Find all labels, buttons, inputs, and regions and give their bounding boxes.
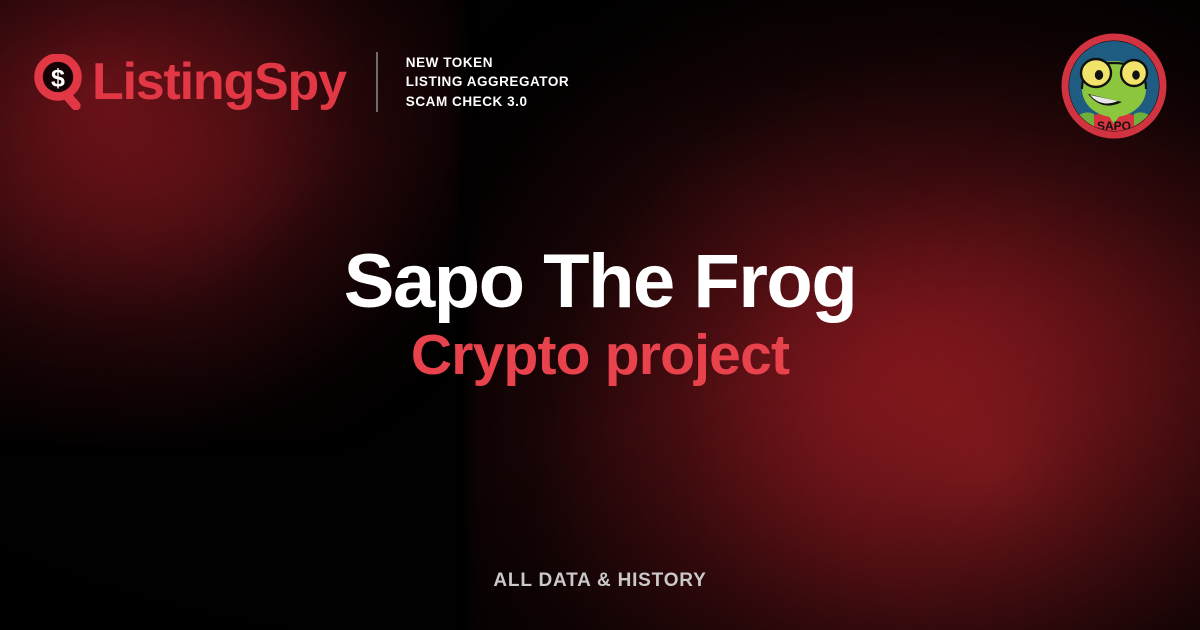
brand-name: ListingSpy xyxy=(92,56,346,108)
page-title: Sapo The Frog xyxy=(0,243,1200,321)
header-divider xyxy=(376,52,378,112)
tagline-line-2: LISTING AGGREGATOR xyxy=(406,72,569,91)
site-header: $ ListingSpy NEW TOKEN LISTING AGGREGATO… xyxy=(34,52,569,112)
svg-text:$: $ xyxy=(51,65,65,93)
footer-bar: ALL DATA & HISTORY xyxy=(0,570,1200,592)
tagline-line-3: SCAM CHECK 3.0 xyxy=(406,92,569,111)
promo-banner: $ ListingSpy NEW TOKEN LISTING AGGREGATO… xyxy=(0,0,1200,630)
sapo-frog-avatar[interactable]: SAPO xyxy=(1060,32,1168,140)
header-tagline: NEW TOKEN LISTING AGGREGATOR SCAM CHECK … xyxy=(406,53,569,110)
footer-text: ALL DATA & HISTORY xyxy=(493,570,706,591)
hero-text-block: Sapo The Frog Crypto project xyxy=(0,243,1200,385)
brand-logo[interactable]: $ ListingSpy xyxy=(34,54,346,110)
magnifier-dollar-icon: $ xyxy=(34,54,86,110)
tagline-line-1: NEW TOKEN xyxy=(406,53,569,72)
page-subtitle: Crypto project xyxy=(0,325,1200,385)
